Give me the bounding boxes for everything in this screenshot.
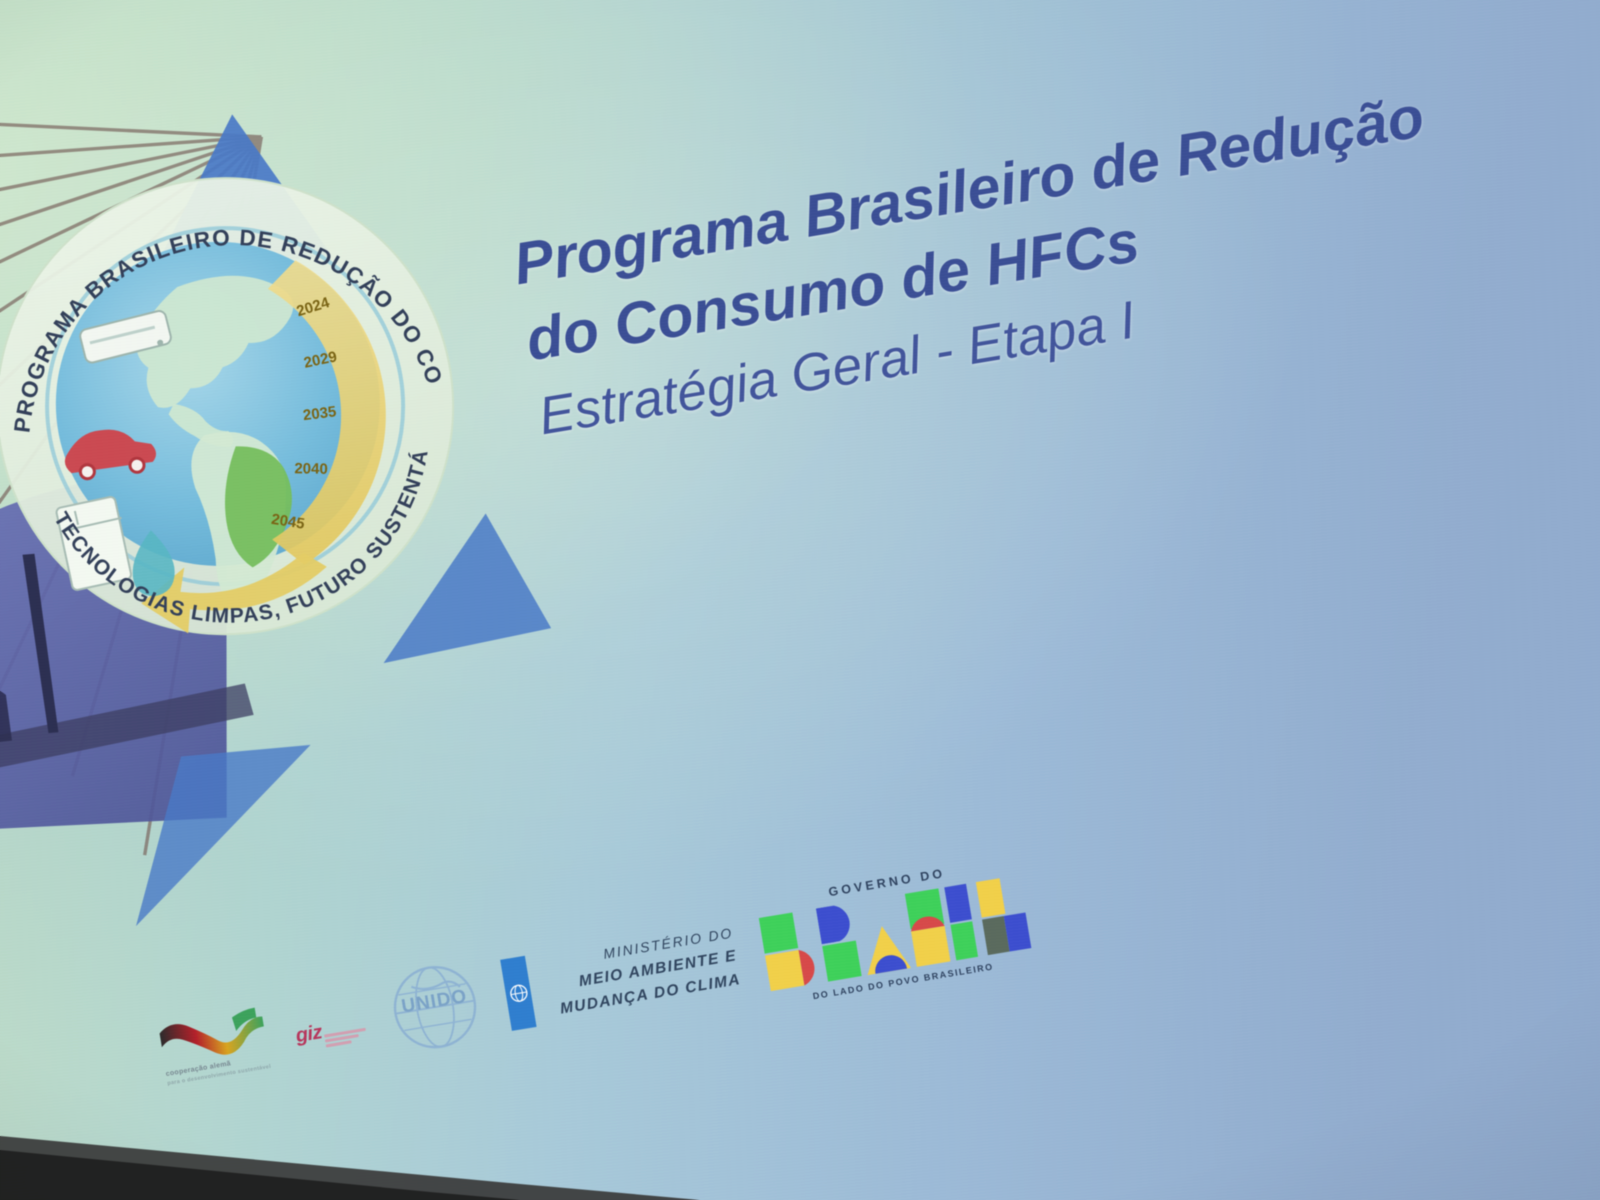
- german-cooperation-logo: cooperação alemã para o desenvolvimento …: [153, 998, 276, 1089]
- government-lockup: GOVERNO DO: [754, 854, 1037, 1008]
- giz-logo: giz: [291, 996, 368, 1054]
- undp-logo: [500, 956, 536, 1031]
- giz-top-label: [291, 1005, 306, 1013]
- unido-logo: UNIDO: [382, 954, 488, 1060]
- projection-photo: 2024 2029 2035 2040 2045 PROGRAMA BRASIL…: [0, 0, 1600, 1200]
- brasil-wordmark: [757, 873, 1034, 994]
- giz-wordmark: giz: [294, 1021, 324, 1048]
- giz-bars: [324, 1027, 368, 1047]
- un-emblem-icon: [507, 982, 530, 1005]
- brasil-geometric-mark: [757, 873, 1034, 994]
- projected-slide: 2024 2029 2035 2040 2045 PROGRAMA BRASIL…: [0, 0, 1600, 1200]
- bottom-edge-shadow: [0, 1080, 1600, 1200]
- program-seal-logo: 2024 2029 2035 2040 2045 PROGRAMA BRASIL…: [0, 151, 480, 661]
- ministry-lockup: MINISTÉRIO DO MEIO AMBIENTE E MUDANÇA DO…: [551, 922, 743, 1022]
- svg-text:2040: 2040: [294, 460, 328, 478]
